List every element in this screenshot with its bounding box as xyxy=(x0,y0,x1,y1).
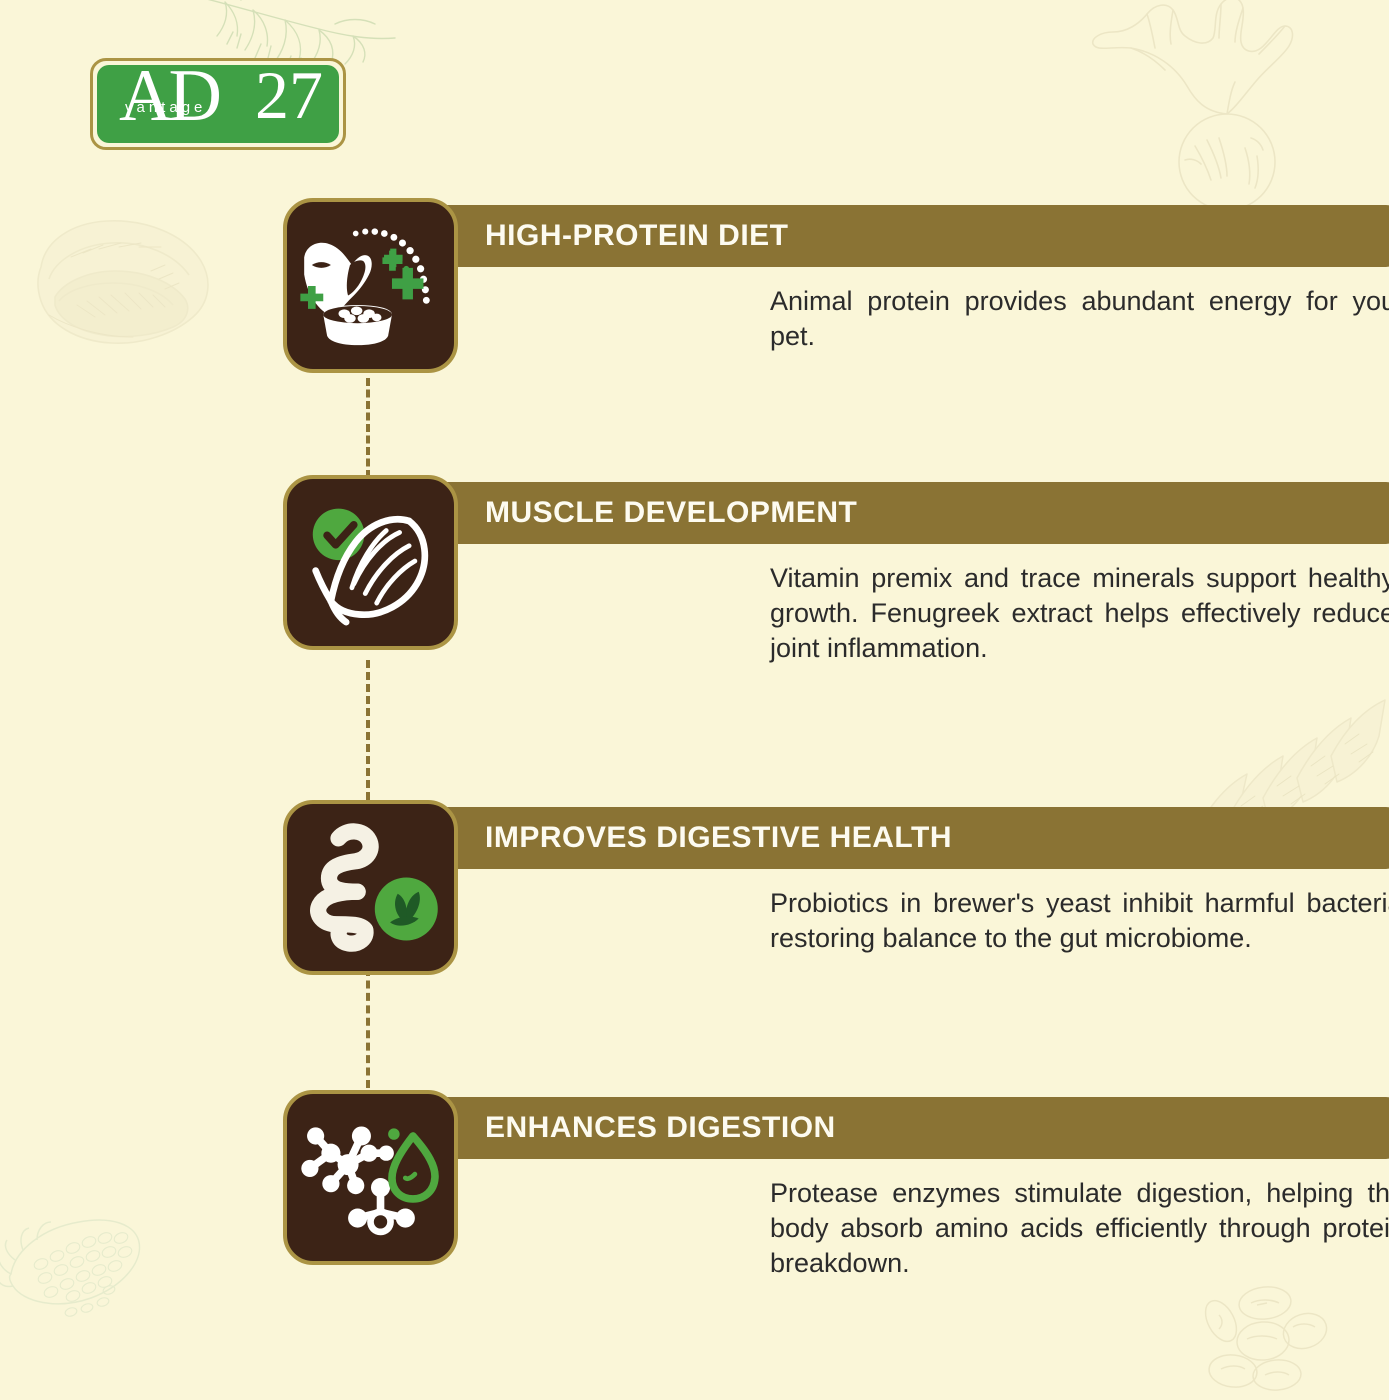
intestine-leaf-icon xyxy=(283,800,458,975)
logo-plate: AD vantage 27 xyxy=(97,65,339,143)
logo-number-text: 27 xyxy=(255,65,323,129)
card-body-text: Probiotics in brewer's yeast inhibit har… xyxy=(770,886,1389,956)
card-body-text: Animal protein provides abundant energy … xyxy=(770,284,1389,354)
logo-sub-text: vantage xyxy=(125,99,206,116)
timeline-connector-2 xyxy=(366,660,370,800)
card-header-bar: ENHANCES DIGESTION xyxy=(415,1097,1389,1159)
card-header-bar: HIGH-PROTEIN DIET xyxy=(415,205,1389,267)
card-title: ENHANCES DIGESTION xyxy=(485,1111,836,1145)
corn-sketch xyxy=(0,1190,180,1365)
dog-eating-bowl-icon xyxy=(283,198,458,373)
muscle-fiber-check-icon xyxy=(283,475,458,650)
timeline-connector-3 xyxy=(366,968,370,1088)
card-body-text: Vitamin premix and trace minerals suppor… xyxy=(770,561,1389,666)
beet-sketch xyxy=(1055,0,1389,240)
card-body-text: Protease enzymes stimulate digestion, he… xyxy=(770,1176,1389,1281)
molecule-droplet-icon xyxy=(283,1090,458,1265)
card-title: HIGH-PROTEIN DIET xyxy=(485,219,789,253)
beans-sketch xyxy=(1185,1275,1365,1395)
card-title: MUSCLE DEVELOPMENT xyxy=(485,496,857,530)
steak-sketch xyxy=(15,205,230,385)
timeline-connector-1 xyxy=(366,378,370,478)
card-header-bar: MUSCLE DEVELOPMENT xyxy=(415,482,1389,544)
card-header-bar: IMPROVES DIGESTIVE HEALTH xyxy=(415,807,1389,869)
brand-logo: AD vantage 27 xyxy=(90,58,346,150)
card-title: IMPROVES DIGESTIVE HEALTH xyxy=(485,821,952,855)
